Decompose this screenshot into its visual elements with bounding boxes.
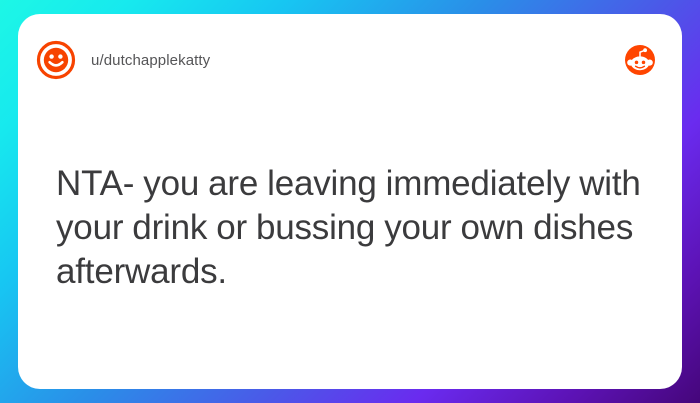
reddit-comment-card: u/dutchapplekatty NTA- you are leaving i… [18,14,682,389]
screenshot-root: u/dutchapplekatty NTA- you are leaving i… [0,0,700,403]
comment-body: NTA- you are leaving immediately with yo… [56,162,646,294]
reddit-snoo-icon[interactable] [624,44,656,76]
username-label: u/dutchapplekatty [91,52,624,69]
comment-text: NTA- you are leaving immediately with yo… [56,162,646,294]
card-header: u/dutchapplekatty [18,14,682,106]
smiley-face-avatar-icon[interactable] [36,40,76,80]
